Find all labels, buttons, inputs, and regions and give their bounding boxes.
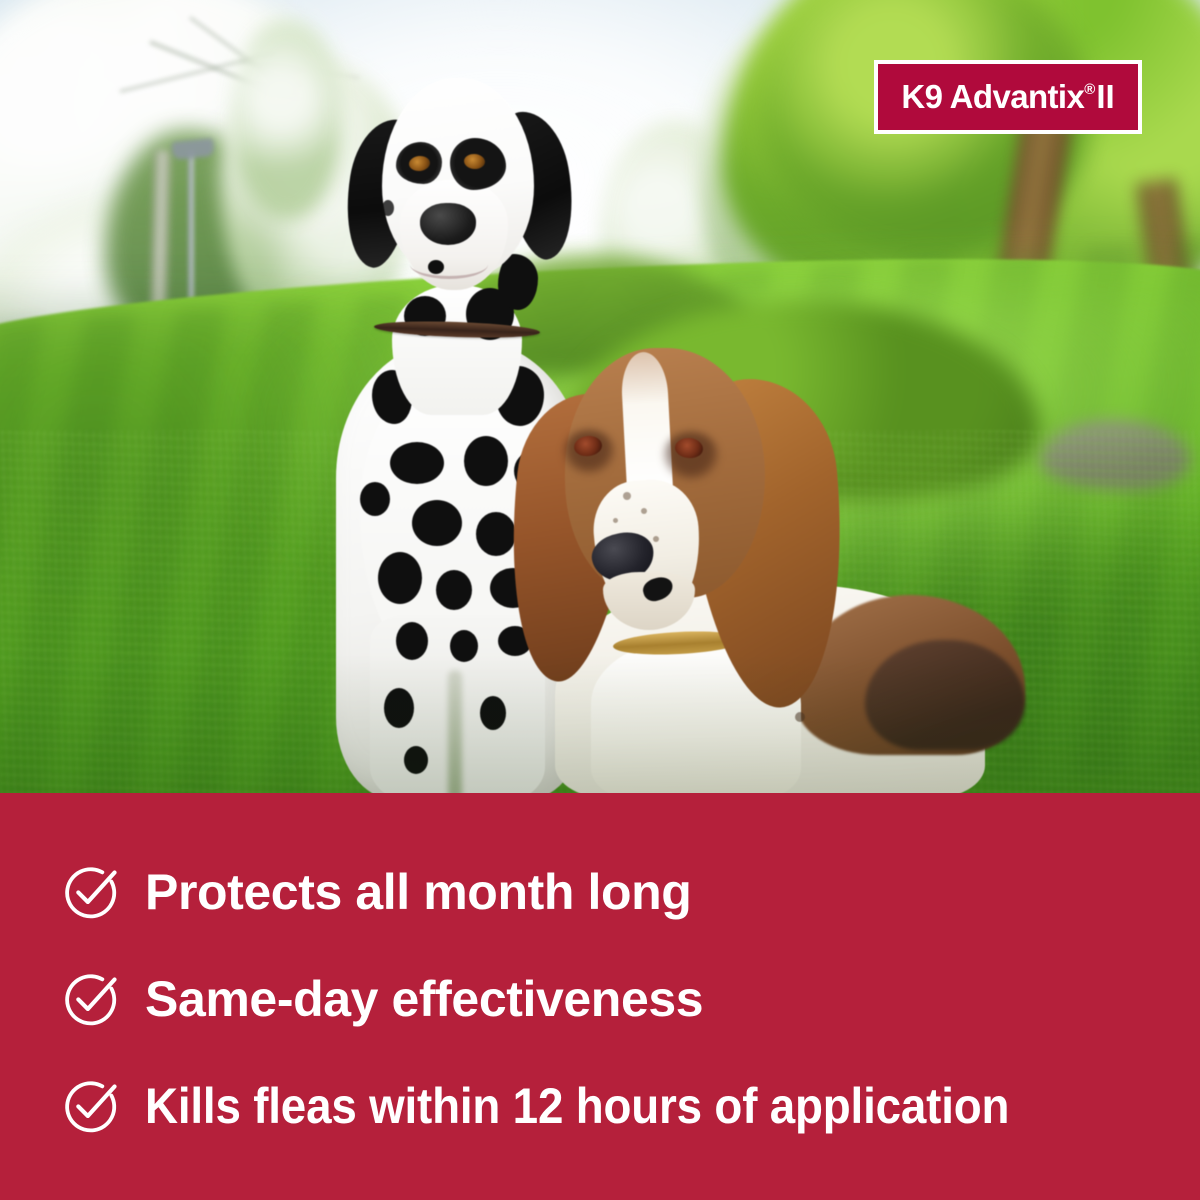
claim-item-1: Protects all month long xyxy=(0,838,1200,945)
check-circle-icon xyxy=(62,1077,120,1135)
claim-text: Kills fleas within 12 hours of applicati… xyxy=(145,1081,1009,1131)
claim-text: Protects all month long xyxy=(145,867,691,917)
check-circle-icon xyxy=(62,970,120,1028)
dalmatian-spot xyxy=(390,442,444,484)
dalmatian-muzzle-spot xyxy=(428,260,444,274)
dalmatian-nose xyxy=(420,203,476,245)
brand-logo-text: K9 Advantix®II xyxy=(901,80,1114,113)
basset-muzzle-speck xyxy=(653,536,659,542)
brand-suffix: II xyxy=(1096,78,1114,115)
dalmatian-spot xyxy=(450,630,478,662)
registered-trademark-symbol: ® xyxy=(1084,81,1095,98)
basset-muzzle-speck xyxy=(613,518,618,523)
dalmatian-spot xyxy=(384,688,414,728)
claims-banner: Protects all month long Same-day effecti… xyxy=(0,793,1200,1200)
claim-text: Same-day effectiveness xyxy=(145,974,703,1024)
brand-name: K9 Advantix xyxy=(901,78,1084,115)
basset-hound-dog xyxy=(495,340,1035,794)
advertisement-root: K9 Advantix®II Protects all month long S… xyxy=(0,0,1200,1200)
dalmatian-cheek-spot xyxy=(382,200,394,216)
basset-body-speck xyxy=(795,712,805,722)
dalmatian-spot xyxy=(412,500,462,546)
basset-back-dark xyxy=(865,640,1025,750)
claim-item-2: Same-day effectiveness xyxy=(0,945,1200,1052)
brand-logo-badge[interactable]: K9 Advantix®II xyxy=(874,60,1142,134)
dalmatian-spot xyxy=(396,622,428,660)
dalmatian-leg-gap xyxy=(448,670,462,794)
basset-muzzle-speck xyxy=(641,508,647,514)
claims-list: Protects all month long Same-day effecti… xyxy=(0,793,1200,1200)
check-circle-icon xyxy=(62,863,120,921)
dalmatian-spot xyxy=(404,746,428,774)
dalmatian-spot xyxy=(360,482,390,516)
basset-muzzle-speck xyxy=(623,492,631,500)
claim-item-3: Kills fleas within 12 hours of applicati… xyxy=(0,1052,1200,1159)
dalmatian-spot xyxy=(378,552,422,604)
dalmatian-spot xyxy=(436,570,472,610)
hero-photo: K9 Advantix®II xyxy=(0,0,1200,794)
dalmatian-mouth xyxy=(410,250,488,279)
